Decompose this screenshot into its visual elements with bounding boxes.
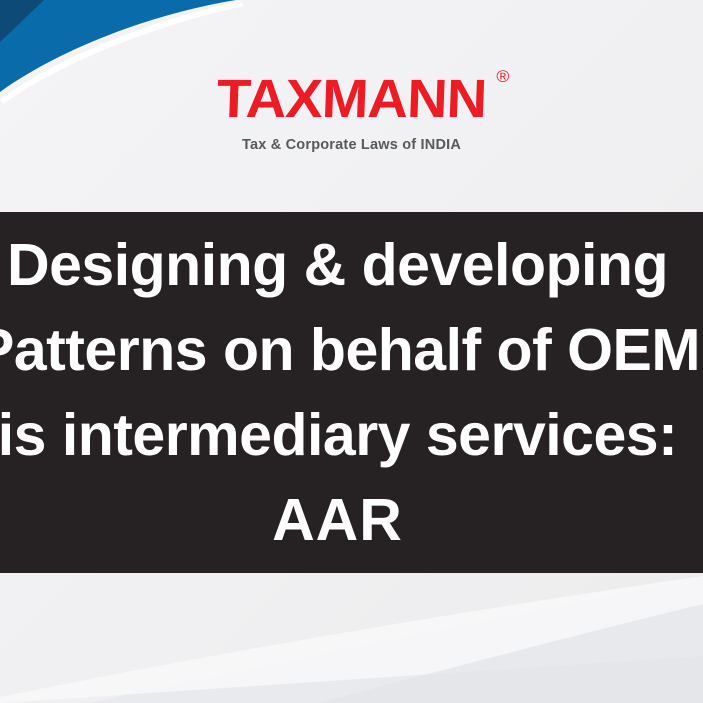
headline-banner: Designing & developing Patterns on behal… [0, 212, 703, 573]
registered-trademark-icon: ® [497, 68, 510, 85]
headline-line-1: Designing & developing [0, 223, 703, 308]
headline-line-3: is intermediary services: [0, 393, 703, 478]
headline-line-4: AAR [0, 478, 703, 563]
logo-wordmark: TAXMANN ® [216, 72, 487, 126]
headline-text-block: Designing & developing Patterns on behal… [0, 223, 703, 563]
social-media-card: TAXMANN ® Tax & Corporate Laws of INDIA … [0, 0, 703, 703]
brand-logo: TAXMANN ® Tax & Corporate Laws of INDIA [0, 72, 703, 153]
headline-line-2: Patterns on behalf of OEM [0, 308, 703, 393]
logo-tagline: Tax & Corporate Laws of INDIA [0, 137, 703, 153]
logo-wordmark-text: TAXMANN [216, 69, 488, 129]
